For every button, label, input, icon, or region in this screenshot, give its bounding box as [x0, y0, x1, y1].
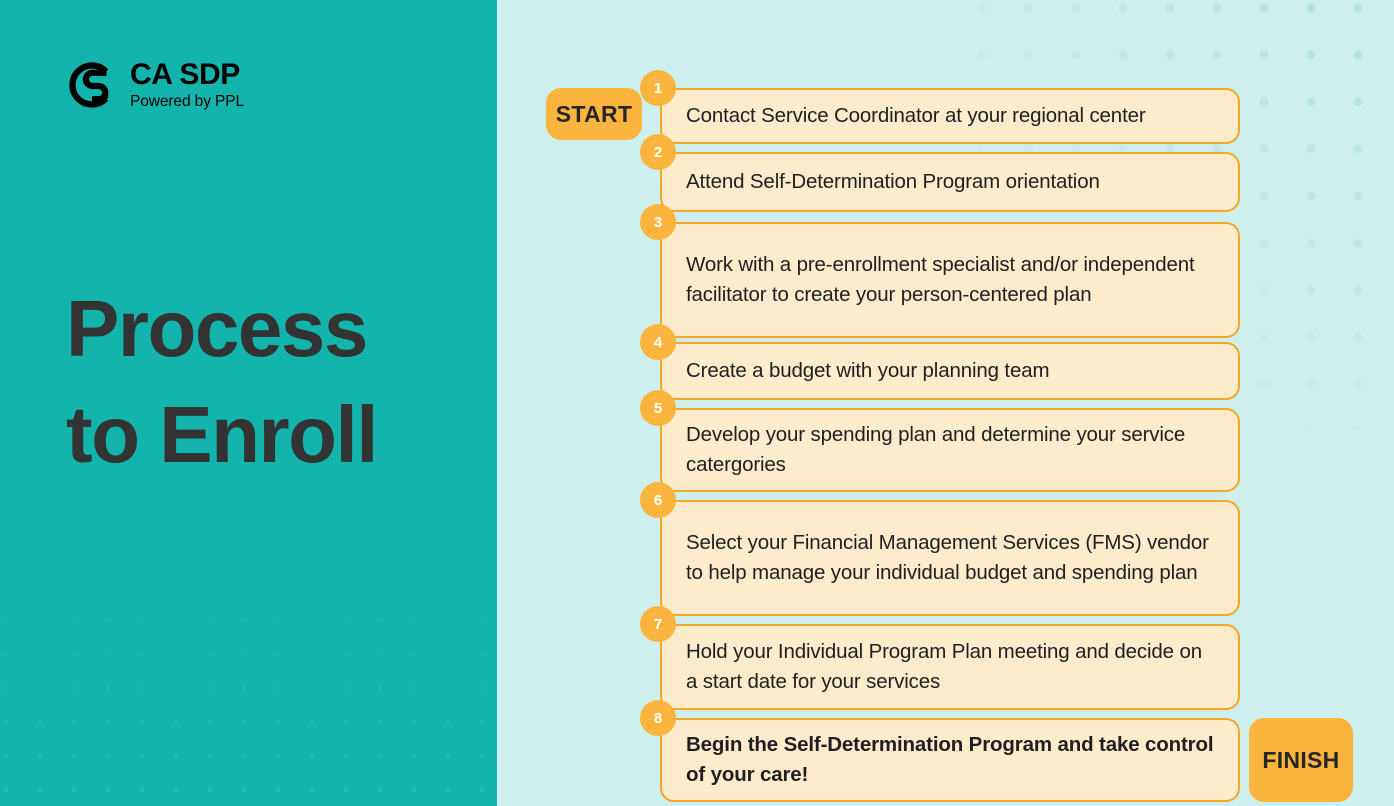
step-number-badge: 7	[640, 606, 676, 642]
step-card: Begin the Self-Determination Program and…	[660, 718, 1240, 802]
step-card: Work with a pre-enrollment specialist an…	[660, 222, 1240, 338]
step-card: Select your Financial Management Service…	[660, 500, 1240, 616]
infographic-canvas: CA SDP Powered by PPL Process to Enroll …	[0, 0, 1394, 806]
step-number-badge: 1	[640, 70, 676, 106]
step-text: Contact Service Coordinator at your regi…	[662, 101, 1168, 131]
step-number-badge: 3	[640, 204, 676, 240]
step-card: Create a budget with your planning team	[660, 342, 1240, 400]
step-text: Develop your spending plan and determine…	[662, 420, 1238, 481]
step-text: Hold your Individual Program Plan meetin…	[662, 637, 1238, 698]
step-number-badge: 4	[640, 324, 676, 360]
step-number-badge: 6	[640, 482, 676, 518]
step-text: Work with a pre-enrollment specialist an…	[662, 250, 1238, 311]
step-text: Begin the Self-Determination Program and…	[662, 730, 1238, 791]
step-text: Create a budget with your planning team	[662, 356, 1071, 386]
step-card: Contact Service Coordinator at your regi…	[660, 88, 1240, 144]
enrollment-steps-list: Contact Service Coordinator at your regi…	[0, 0, 1394, 806]
step-card: Develop your spending plan and determine…	[660, 408, 1240, 492]
step-number-badge: 8	[640, 700, 676, 736]
finish-badge: FINISH	[1249, 718, 1353, 802]
step-text: Attend Self-Determination Program orient…	[662, 167, 1122, 197]
step-number-badge: 2	[640, 134, 676, 170]
step-text: Select your Financial Management Service…	[662, 528, 1238, 589]
step-number-badge: 5	[640, 390, 676, 426]
step-card: Attend Self-Determination Program orient…	[660, 152, 1240, 212]
step-card: Hold your Individual Program Plan meetin…	[660, 624, 1240, 710]
